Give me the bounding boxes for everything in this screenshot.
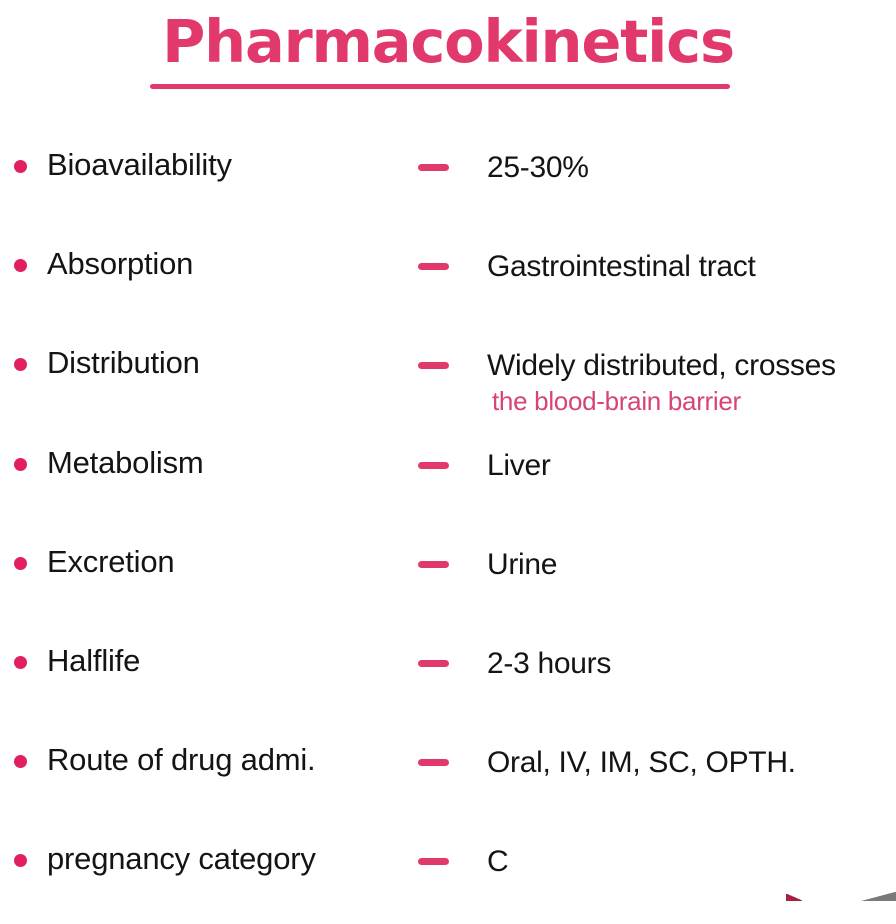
list-item: pregnancy category C	[0, 825, 896, 924]
bullet-icon	[14, 656, 27, 669]
list-item-value: 2-3 hours	[487, 647, 611, 681]
title-block: Pharmacokinetics	[0, 8, 896, 76]
list-item-label: Excretion	[47, 544, 174, 580]
list-item: Bioavailability 25-30%	[0, 131, 896, 230]
dash-icon	[418, 858, 449, 865]
dash-icon	[418, 660, 449, 667]
dash-icon	[418, 759, 449, 766]
pharmacokinetics-slide: Pharmacokinetics Bioavailability 25-30% …	[0, 0, 896, 901]
dash-icon	[418, 263, 449, 270]
list-item-label: Bioavailability	[47, 147, 232, 183]
list-item-label: Route of drug admi.	[47, 742, 315, 778]
list-item-value: C	[487, 845, 508, 879]
bullet-icon	[14, 755, 27, 768]
bullet-icon	[14, 358, 27, 371]
cropped-corner-decoration	[862, 892, 896, 901]
bullet-icon	[14, 259, 27, 272]
dash-icon	[418, 362, 449, 369]
list-item-label: Absorption	[47, 246, 193, 282]
list-item-value: Widely distributed, crosses	[487, 349, 836, 383]
list-item: Excretion Urine	[0, 528, 896, 627]
list-item-value: Oral, IV, IM, SC, OPTH.	[487, 746, 796, 780]
list-item: Absorption Gastrointestinal tract	[0, 230, 896, 329]
bullet-icon	[14, 458, 27, 471]
page-title: Pharmacokinetics	[162, 8, 734, 76]
dash-icon	[418, 164, 449, 171]
list-item-value: 25-30%	[487, 151, 589, 185]
list-item-label: Distribution	[47, 345, 200, 381]
list-item-value-secondary: the blood-brain barrier	[492, 386, 741, 417]
list-item-label: pregnancy category	[47, 841, 316, 877]
bullet-icon	[14, 160, 27, 173]
list-item: Distribution Widely distributed, crosses…	[0, 329, 896, 429]
cropped-pink-decoration	[786, 894, 802, 901]
bullet-icon	[14, 854, 27, 867]
dash-icon	[418, 561, 449, 568]
list-item-value: Gastrointestinal tract	[487, 250, 756, 284]
list-item: Route of drug admi. Oral, IV, IM, SC, OP…	[0, 726, 896, 825]
bullet-icon	[14, 557, 27, 570]
pharmacokinetics-list: Bioavailability 25-30% Absorption Gastro…	[0, 131, 896, 924]
list-item: Halflife 2-3 hours	[0, 627, 896, 726]
list-item-value: Liver	[487, 449, 551, 483]
title-underline	[150, 84, 730, 89]
list-item-label: Halflife	[47, 643, 140, 679]
list-item-label: Metabolism	[47, 445, 204, 481]
list-item-value: Urine	[487, 548, 557, 582]
list-item: Metabolism Liver	[0, 429, 896, 528]
dash-icon	[418, 462, 449, 469]
